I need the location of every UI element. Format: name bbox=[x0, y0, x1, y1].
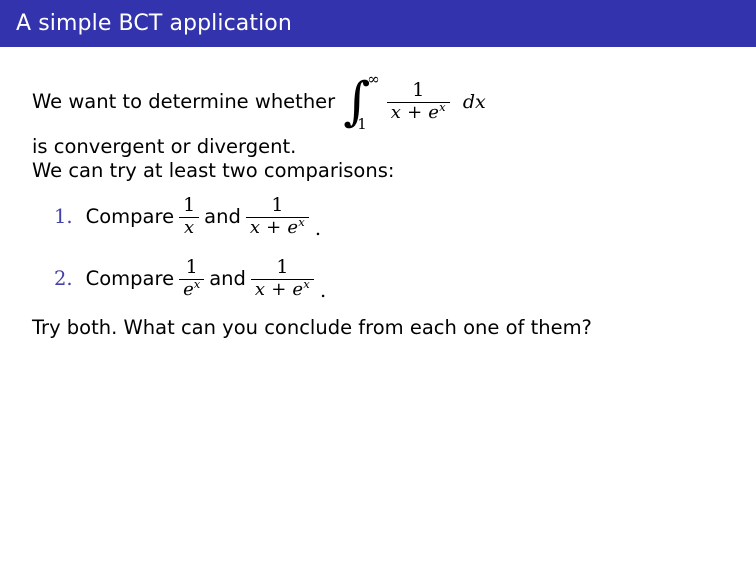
integral-lower-limit: 1 bbox=[357, 117, 370, 132]
comparison-1-right-fraction: 1 x + ex bbox=[246, 196, 309, 238]
list-item-verb: Compare bbox=[86, 207, 174, 227]
integrand-numerator: 1 bbox=[408, 81, 428, 102]
intro-lead-text: We want to determine whether bbox=[32, 92, 335, 112]
integrand-fraction: 1 x + ex bbox=[387, 81, 450, 123]
fraction-denominator-exponent: x bbox=[303, 277, 310, 291]
list-item-conjunction: and bbox=[209, 269, 246, 289]
integrand-denominator: x + ex bbox=[387, 103, 450, 123]
list-item-terminator: . bbox=[320, 281, 326, 307]
fraction-denominator-base: x + e bbox=[255, 279, 303, 300]
fraction-denominator-base: x bbox=[184, 217, 194, 238]
slide-content: We want to determine whether ∫ ∞ 1 1 x +… bbox=[0, 47, 756, 567]
fraction-numerator: 1 bbox=[272, 258, 292, 279]
comparison-list: 1. Compare 1 x and 1 x + ex . 2. Compare… bbox=[32, 190, 726, 306]
fraction-denominator-exponent: x bbox=[194, 277, 201, 291]
fraction-denominator: x + ex bbox=[251, 280, 314, 300]
differential-dx: dx bbox=[463, 93, 486, 112]
integrand-denominator-base: x + e bbox=[391, 102, 439, 123]
slide-root: { "slide": { "title": "A simple BCT appl… bbox=[0, 0, 756, 567]
fraction-denominator-base: e bbox=[183, 279, 194, 300]
convergence-question-line: is convergent or divergent. bbox=[32, 137, 726, 157]
page-title: A simple BCT application bbox=[16, 13, 292, 35]
comparison-2-left-fraction: 1 ex bbox=[179, 258, 204, 300]
fraction-numerator: 1 bbox=[267, 196, 287, 217]
fraction-numerator: 1 bbox=[182, 258, 202, 279]
list-item-verb: Compare bbox=[86, 269, 174, 289]
list-item: 1. Compare 1 x and 1 x + ex . bbox=[32, 190, 726, 244]
integral-expression: ∫ ∞ 1 bbox=[343, 74, 380, 130]
closing-question-line: Try both. What can you conclude from eac… bbox=[32, 318, 726, 338]
fraction-denominator: x bbox=[180, 218, 198, 238]
integral-limits: ∞ 1 bbox=[367, 74, 380, 130]
fraction-denominator: x + ex bbox=[246, 218, 309, 238]
fraction-denominator-base: x + e bbox=[250, 217, 298, 238]
comparison-2-right-fraction: 1 x + ex bbox=[251, 258, 314, 300]
fraction-denominator: ex bbox=[179, 280, 204, 300]
list-item-marker: 1. bbox=[54, 207, 73, 227]
fraction-numerator: 1 bbox=[179, 196, 199, 217]
list-item-marker: 2. bbox=[54, 269, 73, 289]
comparisons-intro-line: We can try at least two comparisons: bbox=[32, 161, 726, 181]
fraction-denominator-exponent: x bbox=[298, 215, 305, 229]
integral-upper-limit: ∞ bbox=[367, 72, 380, 87]
intro-statement: We want to determine whether ∫ ∞ 1 1 x +… bbox=[32, 73, 726, 131]
integrand-denominator-exponent: x bbox=[439, 100, 446, 114]
list-item-conjunction: and bbox=[204, 207, 241, 227]
slide-title-bar: A simple BCT application bbox=[0, 0, 756, 47]
list-item-terminator: . bbox=[315, 219, 321, 245]
comparison-1-left-fraction: 1 x bbox=[179, 196, 199, 238]
list-item: 2. Compare 1 ex and 1 x + ex . bbox=[32, 252, 726, 306]
